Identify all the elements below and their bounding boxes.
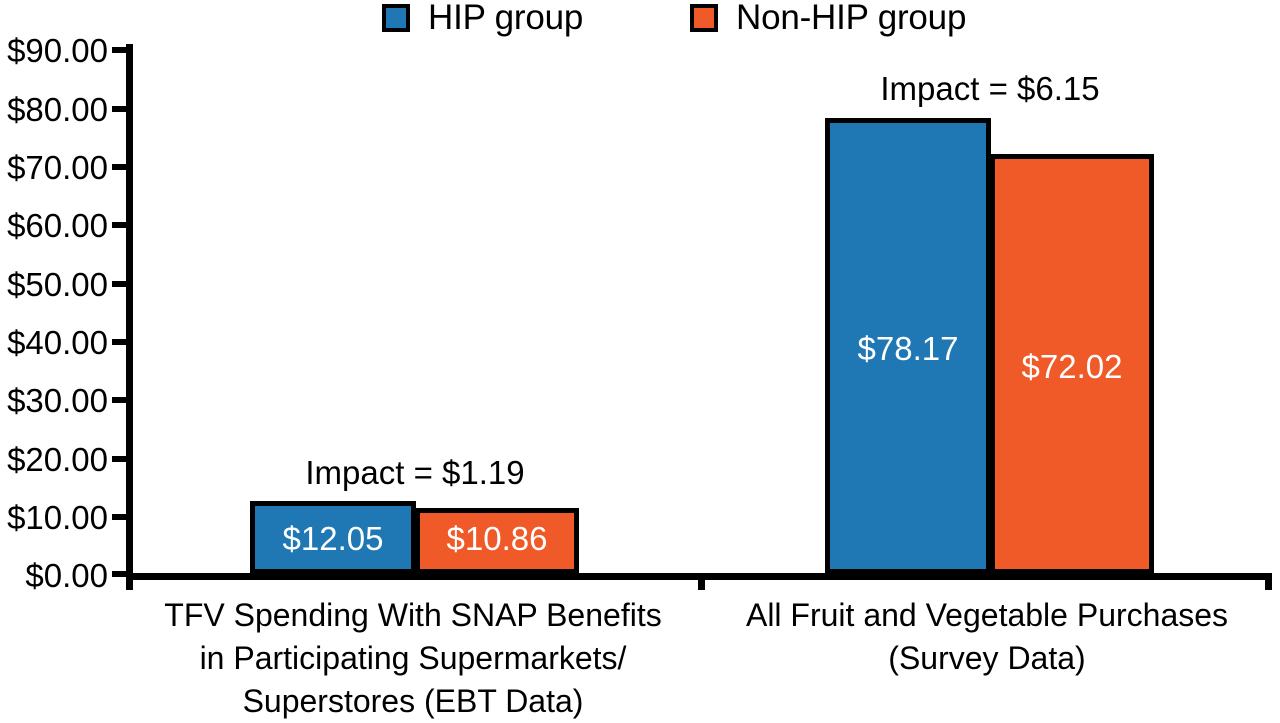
y-axis-tick-label: $50.00 bbox=[0, 268, 108, 301]
bar-chart: HIP group Non-HIP group $90.00 $80.00 $7… bbox=[0, 0, 1280, 715]
x-axis-tick bbox=[126, 573, 133, 590]
y-axis-tick bbox=[112, 339, 128, 345]
y-axis-tick-label: $10.00 bbox=[0, 501, 108, 534]
impact-annotation-group-1: Impact = $6.15 bbox=[825, 72, 1155, 105]
bar-value-label-non-hip-group-1: $72.02 bbox=[990, 350, 1154, 383]
y-axis-tick-label: $0.00 bbox=[0, 559, 108, 592]
plot-area: $90.00 $80.00 $70.00 $60.00 $50.00 $40.0… bbox=[0, 0, 1280, 715]
category-label-line: in Participating Supermarkets/ bbox=[128, 637, 698, 680]
y-axis-tick-label: $80.00 bbox=[0, 93, 108, 126]
category-label-line: TFV Spending With SNAP Benefits bbox=[128, 594, 698, 637]
y-axis-tick-label: $90.00 bbox=[0, 34, 108, 67]
bar-value-label-hip-group-1: $78.17 bbox=[825, 332, 991, 365]
y-axis-tick-label: $40.00 bbox=[0, 326, 108, 359]
impact-annotation-group-0: Impact = $1.19 bbox=[250, 456, 580, 489]
category-label-line: Superstores (EBT Data) bbox=[128, 680, 698, 723]
y-axis-tick bbox=[112, 281, 128, 287]
bar-value-label-non-hip-group-0: $10.86 bbox=[415, 522, 579, 555]
y-axis-tick bbox=[112, 47, 128, 53]
y-axis-tick bbox=[112, 222, 128, 228]
x-axis-category-label-0: TFV Spending With SNAP Benefits in Parti… bbox=[128, 594, 698, 723]
x-axis-category-label-1: All Fruit and Vegetable Purchases (Surve… bbox=[702, 594, 1272, 680]
y-axis-tick bbox=[112, 397, 128, 403]
category-label-line: (Survey Data) bbox=[702, 637, 1272, 680]
y-axis-tick bbox=[112, 164, 128, 170]
y-axis-spine bbox=[126, 44, 133, 580]
bar-value-label-hip-group-0: $12.05 bbox=[250, 522, 416, 555]
y-axis-tick-label: $30.00 bbox=[0, 384, 108, 417]
y-axis-tick bbox=[112, 106, 128, 112]
x-axis-tick bbox=[698, 573, 705, 590]
y-axis-tick-label: $20.00 bbox=[0, 443, 108, 476]
y-axis-tick bbox=[112, 514, 128, 520]
y-axis-tick-label: $60.00 bbox=[0, 209, 108, 242]
y-axis-tick-label: $70.00 bbox=[0, 151, 108, 184]
category-label-line: All Fruit and Vegetable Purchases bbox=[702, 594, 1272, 637]
x-axis-tick bbox=[1265, 573, 1272, 590]
y-axis-tick bbox=[112, 456, 128, 462]
